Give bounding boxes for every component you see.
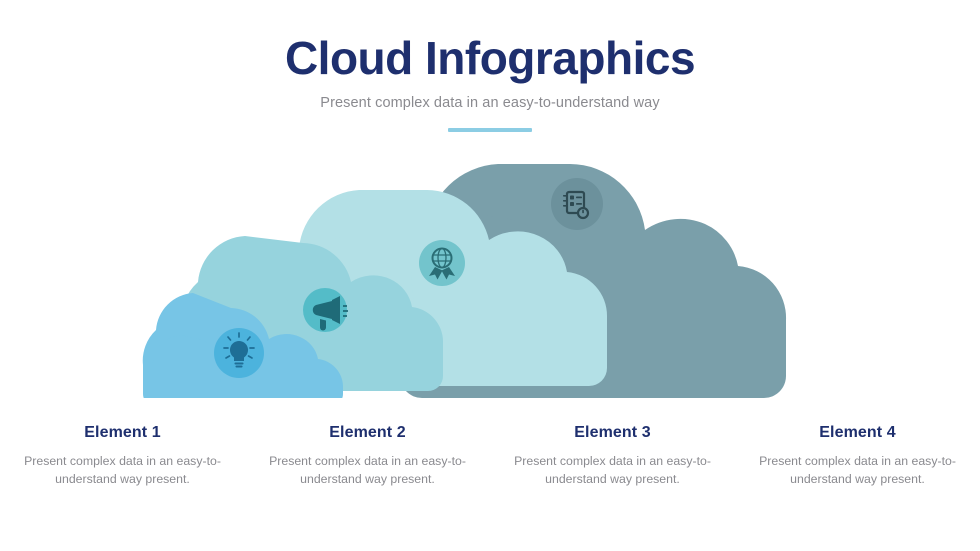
element-description: Present complex data in an easy-to-under… bbox=[12, 452, 233, 489]
cloud-icon-badge-1[interactable] bbox=[214, 328, 264, 378]
page-subtitle: Present complex data in an easy-to-under… bbox=[0, 95, 980, 111]
element-list: Element 1 Present complex data in an eas… bbox=[0, 424, 980, 489]
element-item-1[interactable]: Element 1 Present complex data in an eas… bbox=[0, 424, 245, 489]
element-title: Element 2 bbox=[257, 424, 478, 442]
element-description: Present complex data in an easy-to-under… bbox=[502, 452, 723, 489]
element-description: Present complex data in an easy-to-under… bbox=[257, 452, 478, 489]
element-item-3[interactable]: Element 3 Present complex data in an eas… bbox=[490, 424, 735, 489]
element-description: Present complex data in an easy-to-under… bbox=[747, 452, 968, 489]
icon-circle-3 bbox=[419, 240, 465, 286]
element-item-4[interactable]: Element 4 Present complex data in an eas… bbox=[735, 424, 980, 489]
element-title: Element 4 bbox=[747, 424, 968, 442]
page-title: Cloud Infographics bbox=[0, 34, 980, 82]
infographic-slide: Cloud Infographics Present complex data … bbox=[0, 0, 980, 551]
element-item-2[interactable]: Element 2 Present complex data in an eas… bbox=[245, 424, 490, 489]
element-title: Element 3 bbox=[502, 424, 723, 442]
accent-divider bbox=[448, 128, 532, 132]
header: Cloud Infographics Present complex data … bbox=[0, 34, 980, 132]
cloud-icon-badge-4[interactable] bbox=[551, 178, 603, 230]
element-title: Element 1 bbox=[12, 424, 233, 442]
cloud-illustration bbox=[0, 150, 980, 398]
cloud-icon-badge-3[interactable] bbox=[419, 240, 465, 286]
